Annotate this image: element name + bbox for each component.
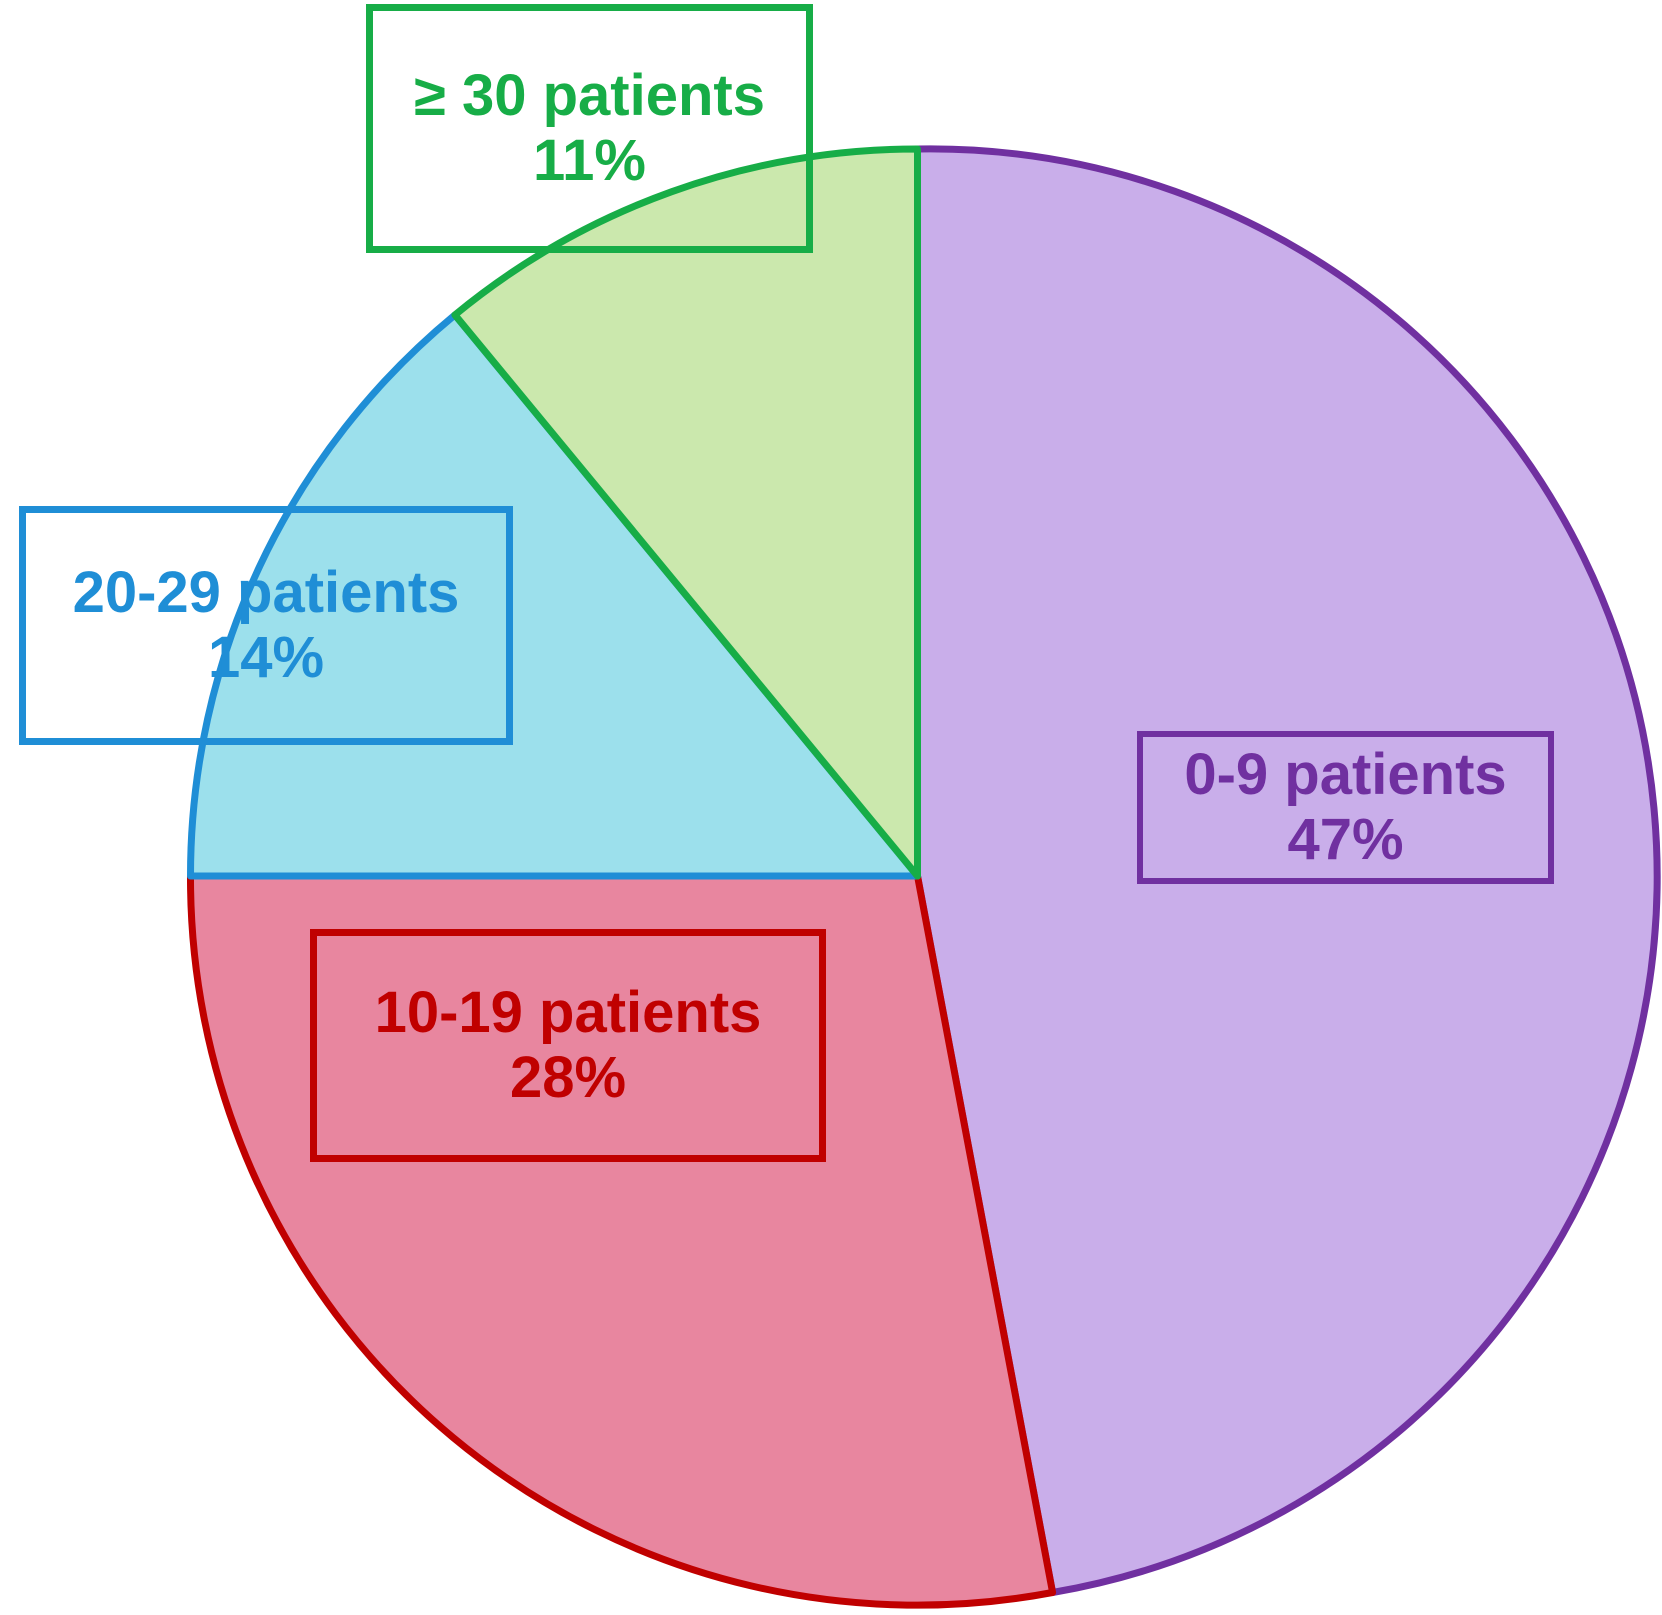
pie-label-20-29-patients[interactable]: 20-29 patients 14%: [19, 506, 513, 745]
pie-label-20-29-patients-percent: 14%: [208, 626, 324, 691]
pie-label-ge-30-patients-category: ≥ 30 patients: [414, 64, 765, 129]
pie-label-0-9-patients[interactable]: 0-9 patients 47%: [1137, 731, 1554, 884]
pie-label-10-19-patients-percent: 28%: [510, 1046, 626, 1111]
pie-chart-figure: ≥ 30 patients 11% 20-29 patients 14% 0-9…: [0, 0, 1662, 1615]
pie-label-0-9-patients-percent: 47%: [1287, 808, 1403, 873]
pie-label-10-19-patients[interactable]: 10-19 patients 28%: [310, 929, 826, 1162]
pie-label-0-9-patients-category: 0-9 patients: [1184, 743, 1506, 808]
pie-label-ge-30-patients-percent: 11%: [533, 129, 646, 194]
pie-label-ge-30-patients[interactable]: ≥ 30 patients 11%: [366, 4, 813, 253]
pie-label-20-29-patients-category: 20-29 patients: [73, 561, 460, 626]
pie-label-10-19-patients-category: 10-19 patients: [375, 981, 762, 1046]
